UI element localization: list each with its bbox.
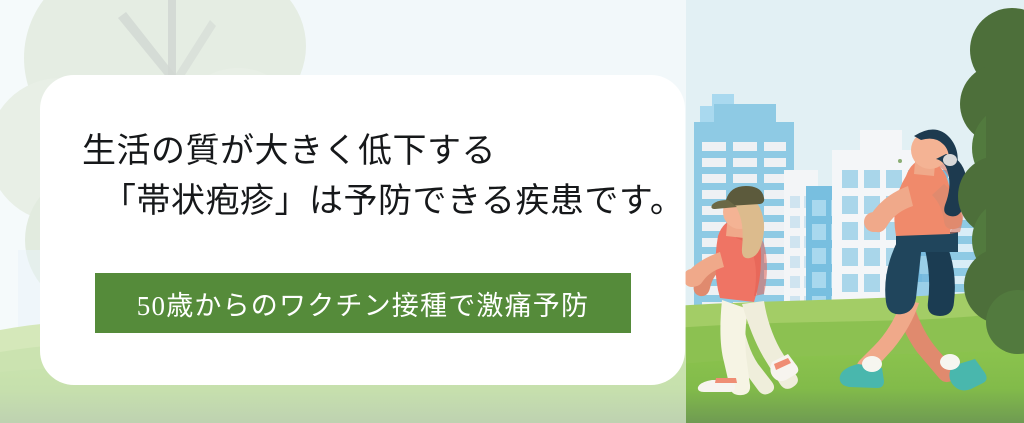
page-title: 生活の質が大きく低下する 「帯状疱疹」は予防できる疾患です。 [82, 127, 662, 228]
vaccine-banner[interactable]: 50歳からのワクチン接種で激痛予防 [95, 273, 631, 333]
content-card: 生活の質が大きく低下する 「帯状疱疹」は予防できる疾患です。 50歳からのワクチ… [40, 75, 685, 385]
headline-line-2: 「帯状疱疹」は予防できる疾患です。 [82, 177, 662, 227]
headline-line-1: 生活の質が大きく低下する [82, 133, 496, 170]
vaccine-banner-label: 50歳からのワクチン接種で激痛予防 [137, 284, 589, 323]
hero-banner: 生活の質が大きく低下する 「帯状疱疹」は予防できる疾患です。 50歳からのワクチ… [0, 0, 1024, 423]
